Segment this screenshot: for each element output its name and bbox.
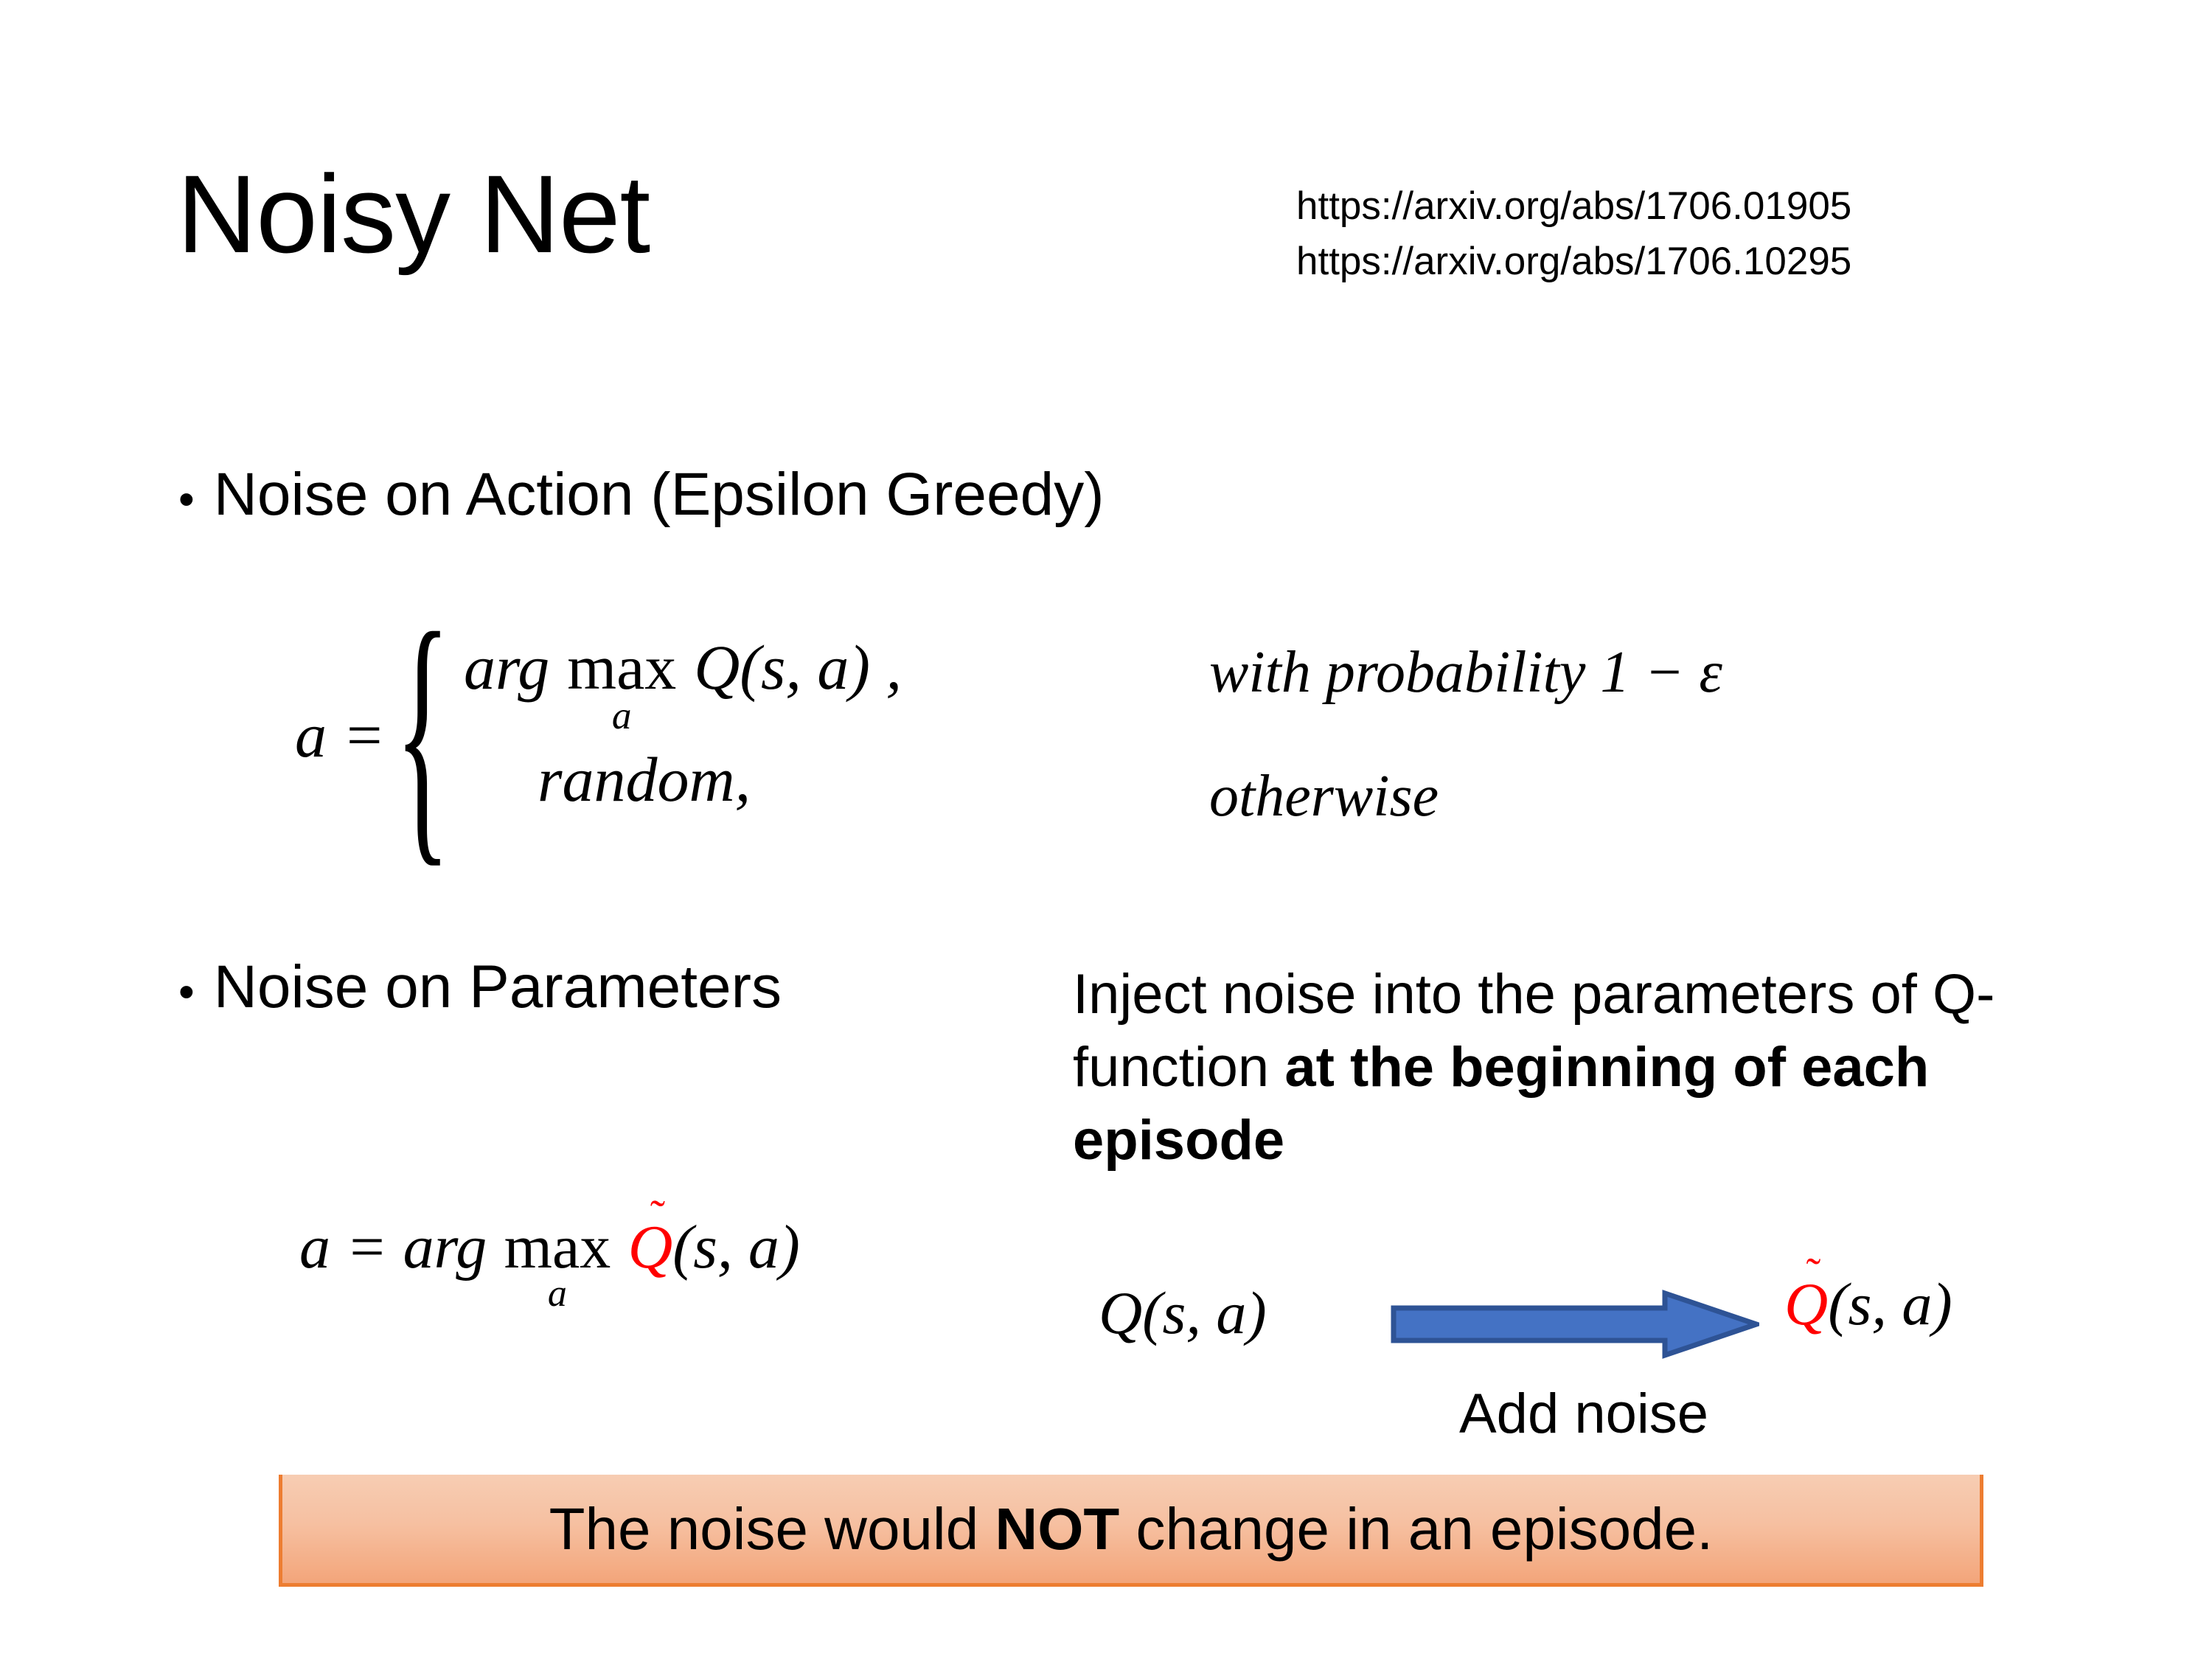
- arg-operator: arg: [464, 632, 549, 703]
- bullet-noise-on-action: • Noise on Action (Epsilon Greedy): [178, 463, 1105, 526]
- equation-noisy-q-lhs: a = arg: [299, 1217, 487, 1279]
- bullet-noise-on-parameters: • Noise on Parameters: [178, 956, 782, 1019]
- max-subscript: a: [612, 697, 632, 734]
- max-operator-group: maxa: [567, 639, 676, 734]
- banner-text-emphasis: NOT: [995, 1496, 1119, 1562]
- add-noise-diagram: Q(s, a) ̃Q(s, a) Add noise: [1099, 1267, 2079, 1481]
- max-operator-group: maxa: [504, 1219, 611, 1312]
- condition-2: otherwise: [1209, 767, 1722, 826]
- equation-case-2: random,: [464, 748, 902, 835]
- reference-links: https://arxiv.org/abs/1706.01905 https:/…: [1296, 178, 1851, 290]
- condition-1: with probability 1 − ε: [1209, 643, 1722, 702]
- equation-case-1: arg maxa Q(s, a) ,: [464, 636, 902, 723]
- bullet-dot-icon: •: [178, 970, 195, 1015]
- equation-noisy-q: a = arg maxa ̃Q(s, a): [299, 1215, 800, 1312]
- q-tilde-symbol: ̃Q: [1784, 1274, 1828, 1335]
- bullet-noise-on-parameters-label: Noise on Parameters: [214, 956, 782, 1019]
- q-tilde-symbol: ̃Q: [628, 1217, 673, 1279]
- equation-lhs: a =: [295, 703, 386, 767]
- q-letter: Q: [628, 1213, 673, 1281]
- equation-conditions: with probability 1 − ε otherwise: [1209, 643, 1722, 826]
- banner-text-before: The noise would: [549, 1496, 995, 1562]
- reference-link-1[interactable]: https://arxiv.org/abs/1706.01905: [1296, 178, 1851, 234]
- case-brace: {: [394, 600, 451, 869]
- banner-text: The noise would NOT change in an episode…: [549, 1500, 1714, 1559]
- reference-link-2[interactable]: https://arxiv.org/abs/1706.10295: [1296, 234, 1851, 289]
- status-banner: The noise would NOT change in an episode…: [279, 1475, 1983, 1587]
- equation-cases: arg maxa Q(s, a) , random,: [464, 636, 902, 835]
- arrow-label-add-noise: Add noise: [1399, 1386, 1768, 1442]
- max-operator: max: [504, 1219, 611, 1276]
- max-subscript: a: [548, 1276, 567, 1312]
- equation-epsilon-greedy: a = { arg maxa Q(s, a) , random,: [295, 636, 902, 835]
- bullet-dot-icon: •: [178, 477, 195, 523]
- inject-noise-description: Inject noise into the parameters of Q-fu…: [1073, 959, 2031, 1177]
- page-title: Noisy Net: [177, 159, 650, 269]
- q-arguments: (s, a): [1828, 1270, 1952, 1338]
- max-operator: max: [567, 639, 676, 697]
- right-arrow-icon: [1391, 1289, 1759, 1360]
- equation-case-1-body: arg maxa Q(s, a) ,: [464, 636, 902, 734]
- q-letter: Q: [1784, 1270, 1828, 1338]
- q-expression: Q(s, a) ,: [694, 632, 902, 703]
- banner-text-after: change in an episode.: [1119, 1496, 1713, 1562]
- bullet-noise-on-action-label: Noise on Action (Epsilon Greedy): [214, 463, 1105, 526]
- diagram-target-q: ̃Q(s, a): [1784, 1274, 1952, 1335]
- q-arguments: (s, a): [672, 1217, 800, 1279]
- slide-canvas: Noisy Net https://arxiv.org/abs/1706.019…: [0, 0, 2212, 1659]
- equation-case-2-body: random,: [464, 748, 751, 811]
- diagram-source-q: Q(s, a): [1099, 1283, 1267, 1343]
